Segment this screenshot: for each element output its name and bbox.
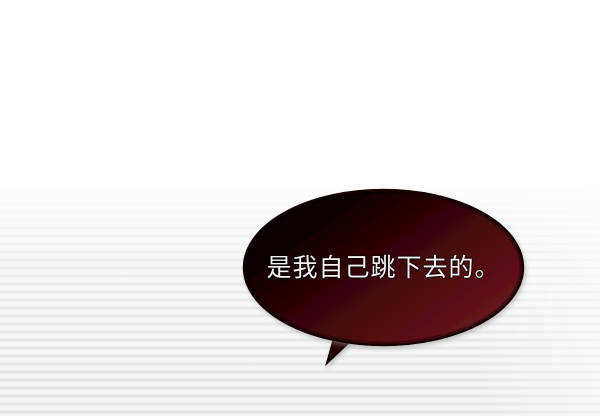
comic-panel: 是我自己跳下去的。	[0, 0, 600, 416]
balloon-body	[244, 190, 523, 345]
speech-balloon: 是我自己跳下去的。	[0, 0, 600, 416]
speech-balloon-graphic	[0, 0, 600, 416]
